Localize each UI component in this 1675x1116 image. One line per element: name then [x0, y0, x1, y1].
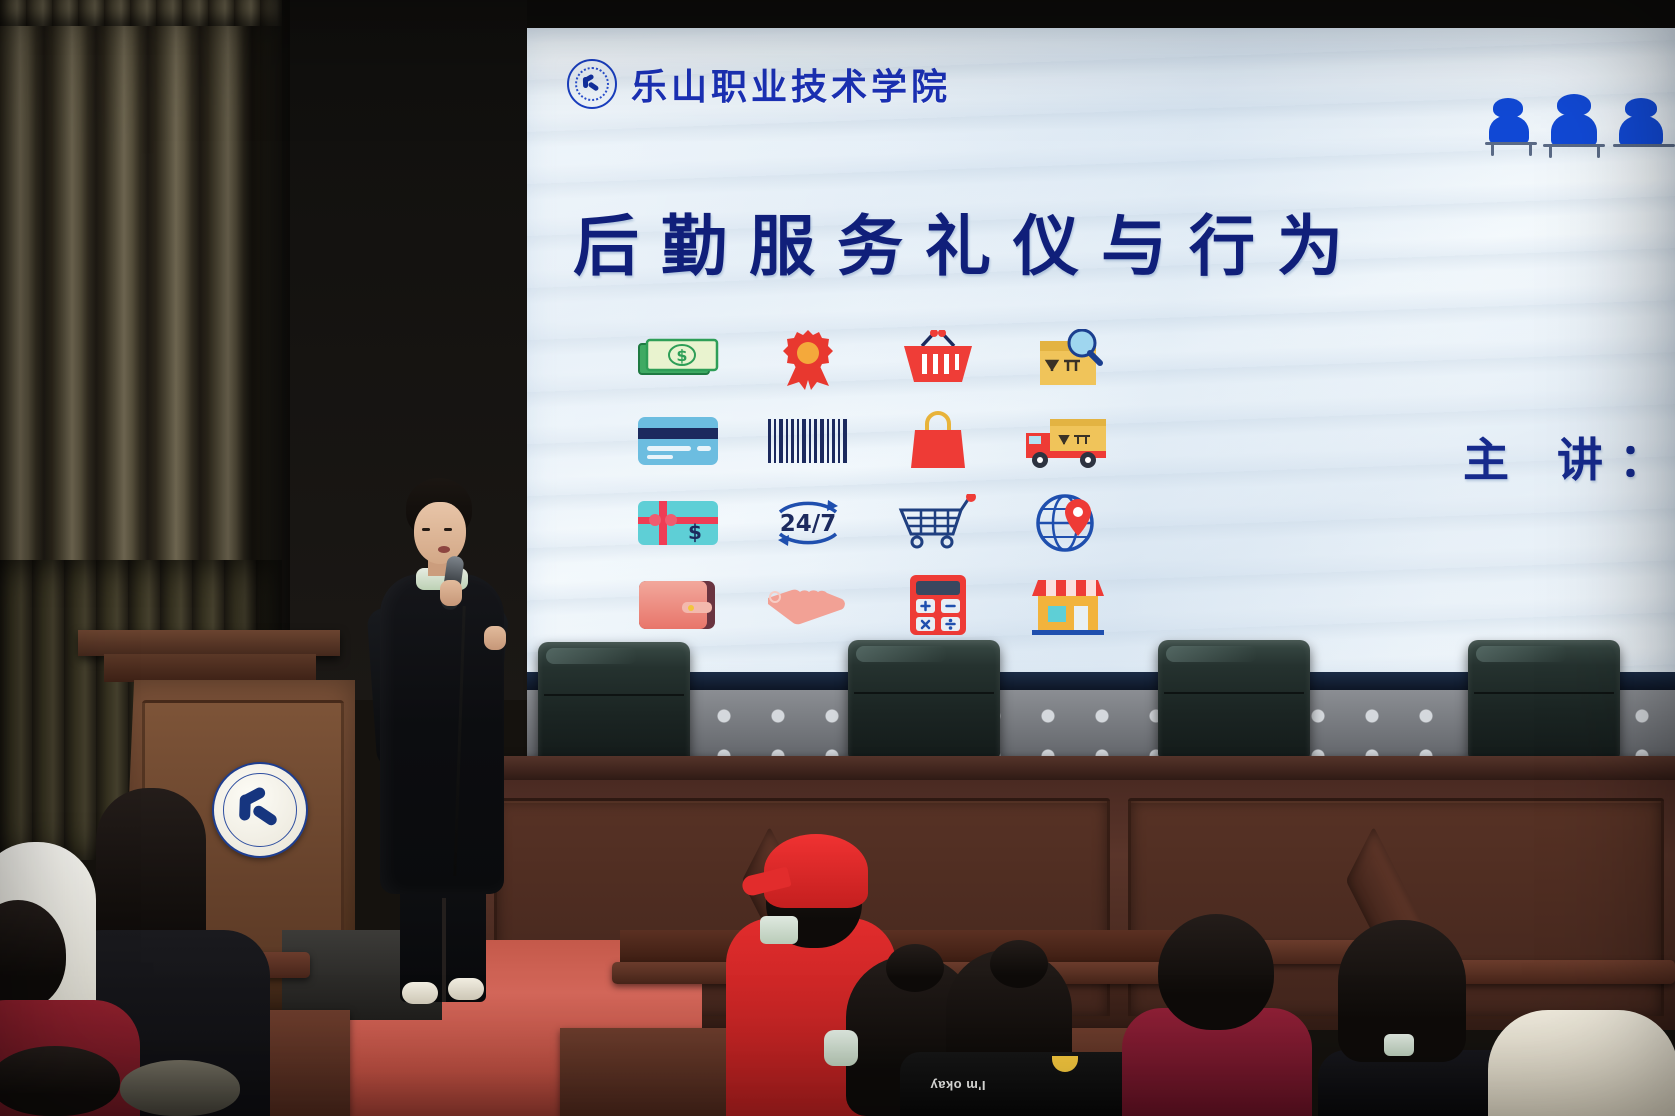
curtain-shadow-edge [260, 0, 290, 700]
presenter-coat [380, 574, 504, 894]
face-mask [824, 1030, 858, 1066]
stage-chair [1468, 640, 1620, 758]
delivery-truck-icon [1003, 400, 1133, 482]
stage-table-top [480, 756, 1675, 782]
gift-card-dollar: $ [688, 520, 702, 544]
slide-icon-grid: $ [613, 318, 1133, 646]
jacket-text: I'm okay [930, 1078, 986, 1093]
gift-card-icon: $ [613, 482, 743, 564]
banknotes-icon: $ [613, 318, 743, 400]
face-mask [1384, 1034, 1414, 1056]
curtain-valance [0, 0, 282, 26]
svg-text:$: $ [676, 346, 687, 365]
podium-top [78, 630, 340, 656]
attendee-cream-hood [1488, 1010, 1675, 1116]
stage-chair [538, 642, 690, 760]
slide-speaker-label: 主 讲： [1463, 424, 1675, 490]
svg-text:24/7: 24/7 [780, 511, 836, 537]
presenter-woman [348, 478, 548, 1008]
shopping-bag-icon [873, 400, 1003, 482]
stage-chair [1158, 640, 1310, 758]
wallet-icon [613, 564, 743, 646]
award-ribbon-icon [743, 318, 873, 400]
hair-bun [886, 944, 944, 992]
stage-chair [848, 640, 1000, 758]
slide-org-name: 乐山职业技术学院 [631, 58, 951, 110]
shopping-basket-icon [873, 318, 1003, 400]
shopping-cart-icon [873, 482, 1003, 564]
presenter-hand-holding-mic [440, 580, 462, 606]
credit-card-icon [613, 400, 743, 482]
globe-location-icon [1003, 482, 1133, 564]
podium-neck [104, 654, 316, 682]
college-round-emblem [212, 762, 308, 858]
attendee-foreground-left [0, 1046, 120, 1116]
hair-bun [990, 940, 1048, 988]
attendee-foreground-left-2 [120, 1060, 240, 1116]
leshan-college-emblem-icon [567, 59, 617, 109]
presenter-shoe-left [402, 982, 438, 1004]
presenter-face [414, 502, 466, 564]
package-search-icon [1003, 318, 1133, 400]
storefront-icon [1003, 564, 1133, 646]
training-classroom-people-icon [1485, 84, 1675, 158]
slide-org-header: 乐山职业技术学院 [567, 58, 951, 110]
lecture-hall-scene: 乐山职业技术学院 后勤服务礼仪与行为 主 讲： [0, 0, 1675, 1116]
barcode-icon [743, 400, 873, 482]
presenter-hand-gesture [484, 626, 506, 650]
projection-screen: 乐山职业技术学院 后勤服务礼仪与行为 主 讲： [527, 28, 1675, 690]
twenty-four-seven-icon: 24/7 [743, 482, 873, 564]
presenter-shoe-right [448, 978, 484, 1000]
slide-title: 后勤服务礼仪与行为 [573, 214, 1673, 280]
face-mask [760, 916, 798, 944]
attendee-maroon-collar-head [1158, 914, 1274, 1030]
pointing-hand-icon [743, 564, 873, 646]
calculator-icon [873, 564, 1003, 646]
